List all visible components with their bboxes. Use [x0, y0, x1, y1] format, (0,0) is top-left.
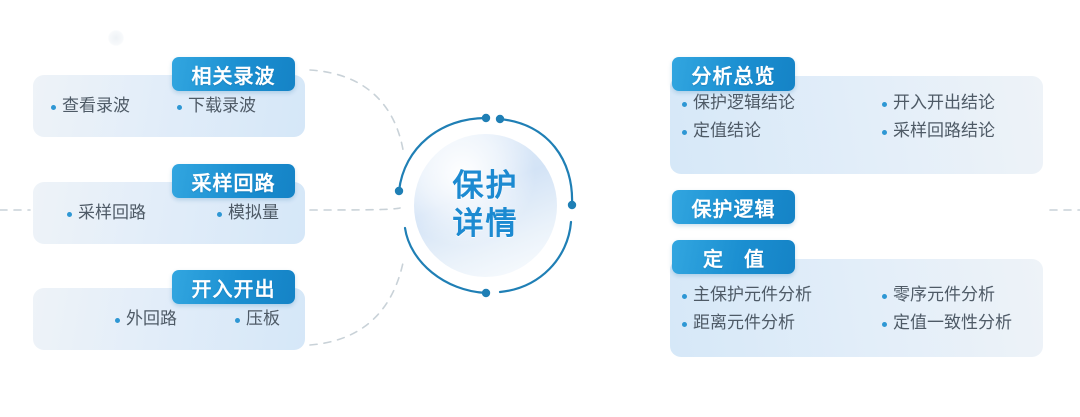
list-item[interactable]: 距离元件分析 — [682, 314, 882, 333]
list-item-label: 定值结论 — [693, 122, 761, 141]
badge-label: 相关录波 — [192, 60, 276, 89]
badge-label: 采样回路 — [192, 167, 276, 196]
bullet-icon — [682, 130, 687, 135]
badge-label: 开入开出 — [192, 273, 276, 302]
bullet-icon — [177, 105, 182, 110]
bullet-icon — [682, 102, 687, 107]
list-item[interactable]: 外回路 — [115, 310, 235, 329]
list-item[interactable]: 定值一致性分析 — [882, 314, 1052, 333]
center-hub: 保护 详情 — [398, 118, 573, 293]
badge-label: 定 值 — [703, 243, 771, 272]
list-item[interactable]: 查看录波 — [51, 97, 177, 116]
bullet-icon — [682, 322, 687, 327]
list-item[interactable]: 零序元件分析 — [882, 286, 1052, 305]
list-item[interactable]: 下载录波 — [177, 97, 297, 116]
list-item[interactable]: 压板 — [235, 310, 330, 329]
list-item-label: 零序元件分析 — [893, 286, 995, 305]
list-item-label: 压板 — [246, 310, 280, 329]
list-item-label: 距离元件分析 — [693, 314, 795, 333]
bullet-icon — [51, 105, 56, 110]
list-item-label: 查看录波 — [62, 97, 130, 116]
badge-related-recording[interactable]: 相关录波 — [172, 57, 295, 91]
list-item-label: 主保护元件分析 — [693, 286, 812, 305]
list-item-label: 定值一致性分析 — [893, 314, 1012, 333]
list-item-label: 开入开出结论 — [893, 94, 995, 113]
list-item-label: 采样回路 — [78, 204, 146, 223]
bullet-icon — [235, 318, 240, 323]
list-item[interactable]: 定值结论 — [682, 122, 882, 141]
bullet-icon — [882, 102, 887, 107]
list-item-label: 采样回路结论 — [893, 122, 995, 141]
bullet-icon — [217, 212, 222, 217]
list-item-label: 保护逻辑结论 — [693, 94, 795, 113]
badge-setting-values[interactable]: 定 值 — [672, 240, 795, 274]
hub-circle — [414, 134, 557, 277]
badge-protection-logic[interactable]: 保护逻辑 — [672, 190, 795, 224]
list-item[interactable]: 模拟量 — [217, 204, 317, 223]
list-item[interactable]: 采样回路 — [67, 204, 217, 223]
badge-analysis-overview[interactable]: 分析总览 — [672, 57, 795, 91]
badge-label: 分析总览 — [692, 60, 776, 89]
bullet-icon — [882, 322, 887, 327]
badge-label: 保护逻辑 — [692, 193, 776, 222]
bullet-icon — [67, 212, 72, 217]
list-item[interactable]: 保护逻辑结论 — [682, 94, 882, 113]
list-item-label: 外回路 — [126, 310, 177, 329]
list-item-label: 模拟量 — [228, 204, 279, 223]
badge-digital-io[interactable]: 开入开出 — [172, 270, 295, 304]
list-item-label: 下载录波 — [188, 97, 256, 116]
bullet-icon — [882, 130, 887, 135]
bullet-icon — [882, 294, 887, 299]
list-item[interactable]: 主保护元件分析 — [682, 286, 882, 305]
list-item[interactable]: 开入开出结论 — [882, 94, 1052, 113]
badge-sampling-circuit[interactable]: 采样回路 — [172, 164, 295, 198]
list-item[interactable]: 采样回路结论 — [882, 122, 1052, 141]
infographic-canvas: 保护 详情 查看录波 下载录波 相关录波 采样回路 模 — [0, 0, 1080, 417]
bullet-icon — [682, 294, 687, 299]
bullet-icon — [115, 318, 120, 323]
